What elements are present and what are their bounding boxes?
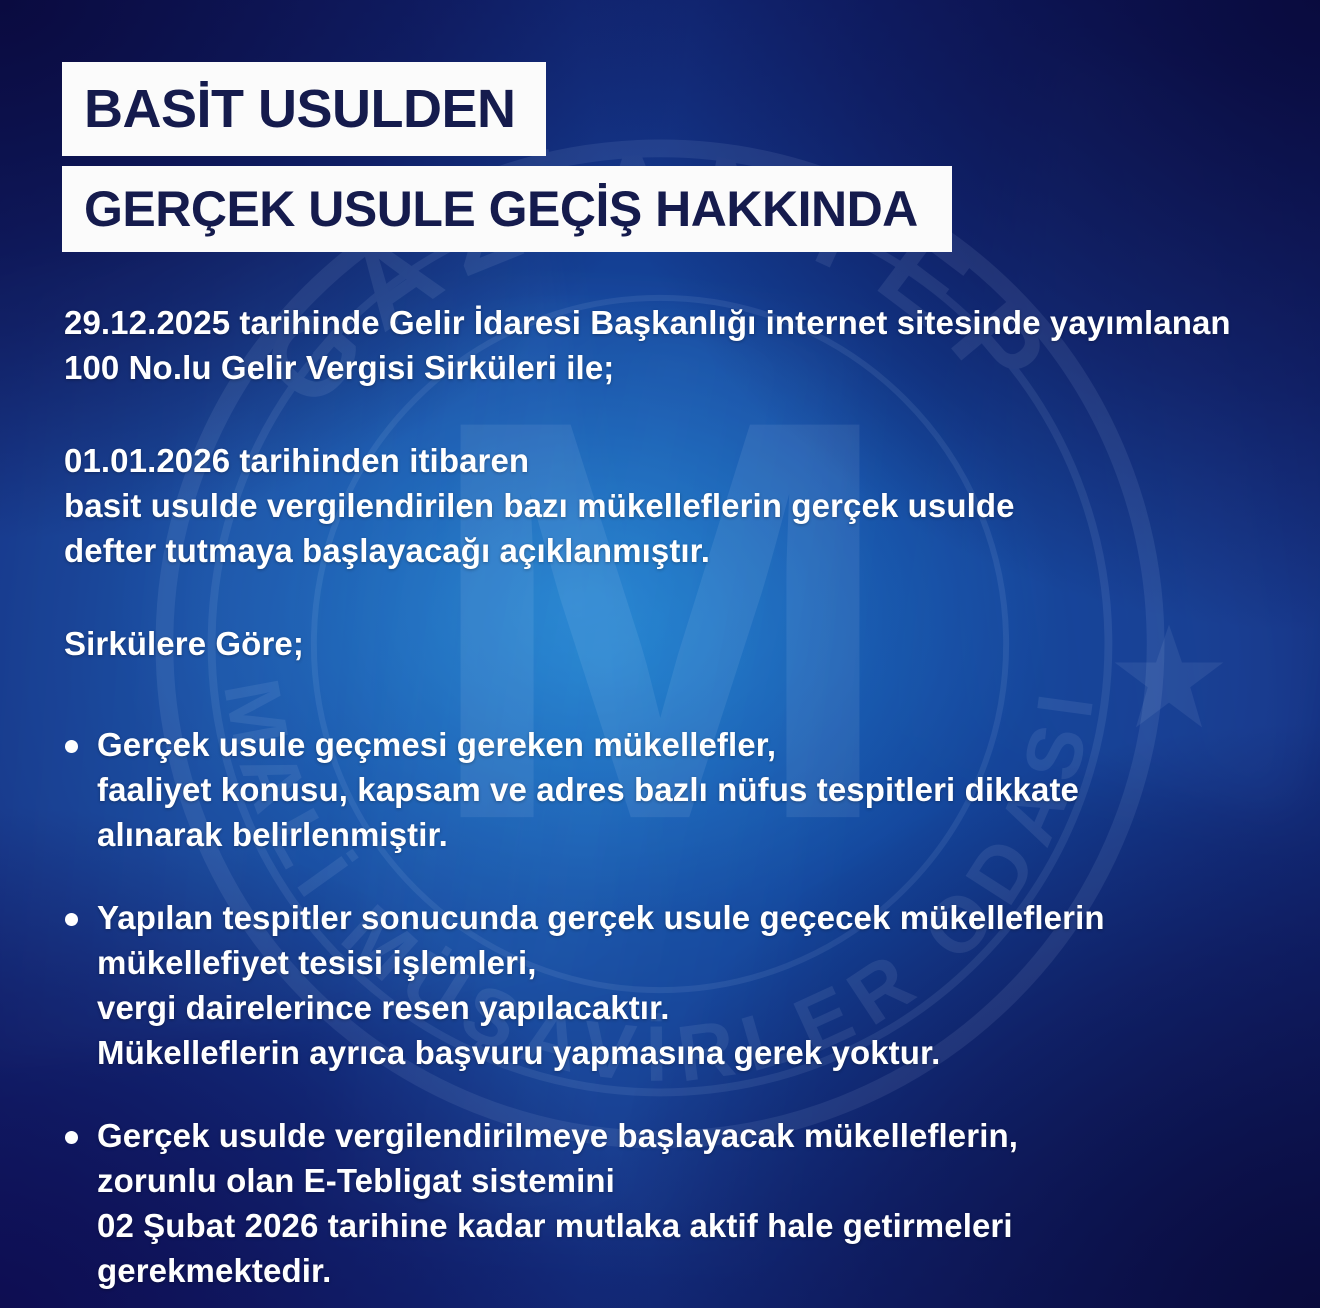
spacer-before-leadin: [64, 573, 1284, 621]
effective-date-paragraph: 01.01.2026 tarihinden itibaren basit usu…: [64, 438, 1284, 573]
list-item: Yapılan tespitler sonucunda gerçek usule…: [64, 895, 1284, 1075]
lead-in-text: Sirkülere Göre;: [64, 621, 1284, 666]
body-content: 29.12.2025 tarihinde Gelir İdaresi Başka…: [64, 300, 1284, 1293]
title-band-secondary: GERÇEK USULE GEÇİŞ HAKKINDA: [62, 166, 952, 252]
bullet-2-line-4: Mükelleflerin ayrıca başvuru yapmasına g…: [97, 1030, 1284, 1075]
bullet-3-line-3: 02 Şubat 2026 tarihine kadar mutlaka akt…: [97, 1203, 1284, 1248]
bullet-2-line-2: mükellefiyet tesisi işlemleri,: [97, 940, 1284, 985]
effective-line-3: defter tutmaya başlayacağı açıklanmıştır…: [64, 528, 1284, 573]
title-line-1: BASİT USULDEN: [84, 78, 516, 140]
bullet-1-lines: Gerçek usule geçmesi gereken mükellefler…: [97, 722, 1284, 857]
bullet-1-line-3: alınarak belirlenmiştir.: [97, 812, 1284, 857]
list-item: Gerçek usule geçmesi gereken mükellefler…: [64, 722, 1284, 857]
spacer-after-intro: [64, 390, 1284, 438]
list-item: Gerçek usulde vergilendirilmeye başlayac…: [64, 1113, 1284, 1293]
intro-line-1: 29.12.2025 tarihinde Gelir İdaresi Başka…: [64, 300, 1284, 345]
bullet-3-line-4: gerekmektedir.: [97, 1248, 1284, 1293]
bullet-dot-icon: [65, 1131, 78, 1144]
bullet-1-line-2: faaliyet konusu, kapsam ve adres bazlı n…: [97, 767, 1284, 812]
spacer-bullet-2-3: [64, 1075, 1284, 1113]
intro-line-2: 100 No.lu Gelir Vergisi Sirküleri ile;: [64, 345, 1284, 390]
bullet-dot-icon: [65, 913, 78, 926]
effective-line-1: 01.01.2026 tarihinden itibaren: [64, 438, 1284, 483]
title-band-primary: BASİT USULDEN: [62, 62, 546, 156]
intro-paragraph: 29.12.2025 tarihinde Gelir İdaresi Başka…: [64, 300, 1284, 390]
bullet-2-line-1: Yapılan tespitler sonucunda gerçek usule…: [97, 895, 1284, 940]
bullet-dot-icon: [65, 740, 78, 753]
bullet-3-lines: Gerçek usulde vergilendirilmeye başlayac…: [97, 1113, 1284, 1293]
spacer-before-bullets: [64, 666, 1284, 722]
poster-canvas: GAZİANTEP MALİ MÜŞAVİRLER ODASI M BASİT …: [0, 0, 1320, 1308]
lead-in-paragraph: Sirkülere Göre;: [64, 621, 1284, 666]
bullet-1-line-1: Gerçek usule geçmesi gereken mükellefler…: [97, 722, 1284, 767]
bullet-2-lines: Yapılan tespitler sonucunda gerçek usule…: [97, 895, 1284, 1075]
effective-line-2: basit usulde vergilendirilen bazı mükell…: [64, 483, 1284, 528]
bullet-3-line-2: zorunlu olan E-Tebligat sistemini: [97, 1158, 1284, 1203]
bullet-2-line-3: vergi dairelerince resen yapılacaktır.: [97, 985, 1284, 1030]
spacer-bullet-1-2: [64, 857, 1284, 895]
bullet-3-line-1: Gerçek usulde vergilendirilmeye başlayac…: [97, 1113, 1284, 1158]
title-line-2: GERÇEK USULE GEÇİŞ HAKKINDA: [84, 180, 918, 238]
